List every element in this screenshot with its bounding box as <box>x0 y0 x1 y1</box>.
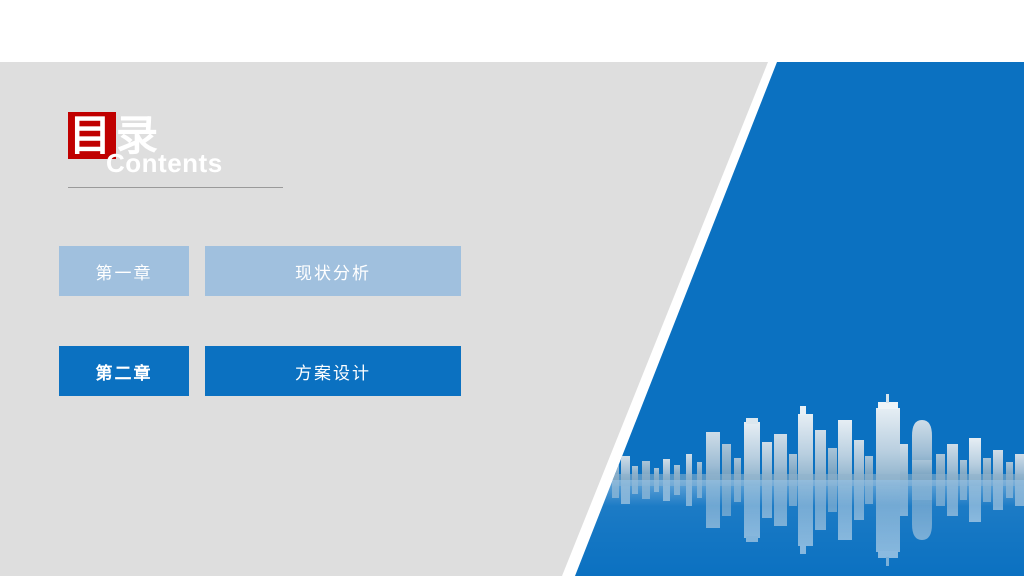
page-title: 目录 Contents <box>68 112 468 202</box>
title-underline-rule <box>68 187 283 188</box>
chapter-title-1[interactable]: 现状分析 <box>205 246 461 296</box>
page-title-en: Contents <box>106 148 223 178</box>
chapter-number-1[interactable]: 第一章 <box>59 246 189 296</box>
slide-canvas: 目录 Contents 第一章 现状分析 第二章 方案设计 <box>0 0 1024 576</box>
chapter-title-2[interactable]: 方案设计 <box>205 346 461 396</box>
chapter-number-2[interactable]: 第二章 <box>59 346 189 396</box>
